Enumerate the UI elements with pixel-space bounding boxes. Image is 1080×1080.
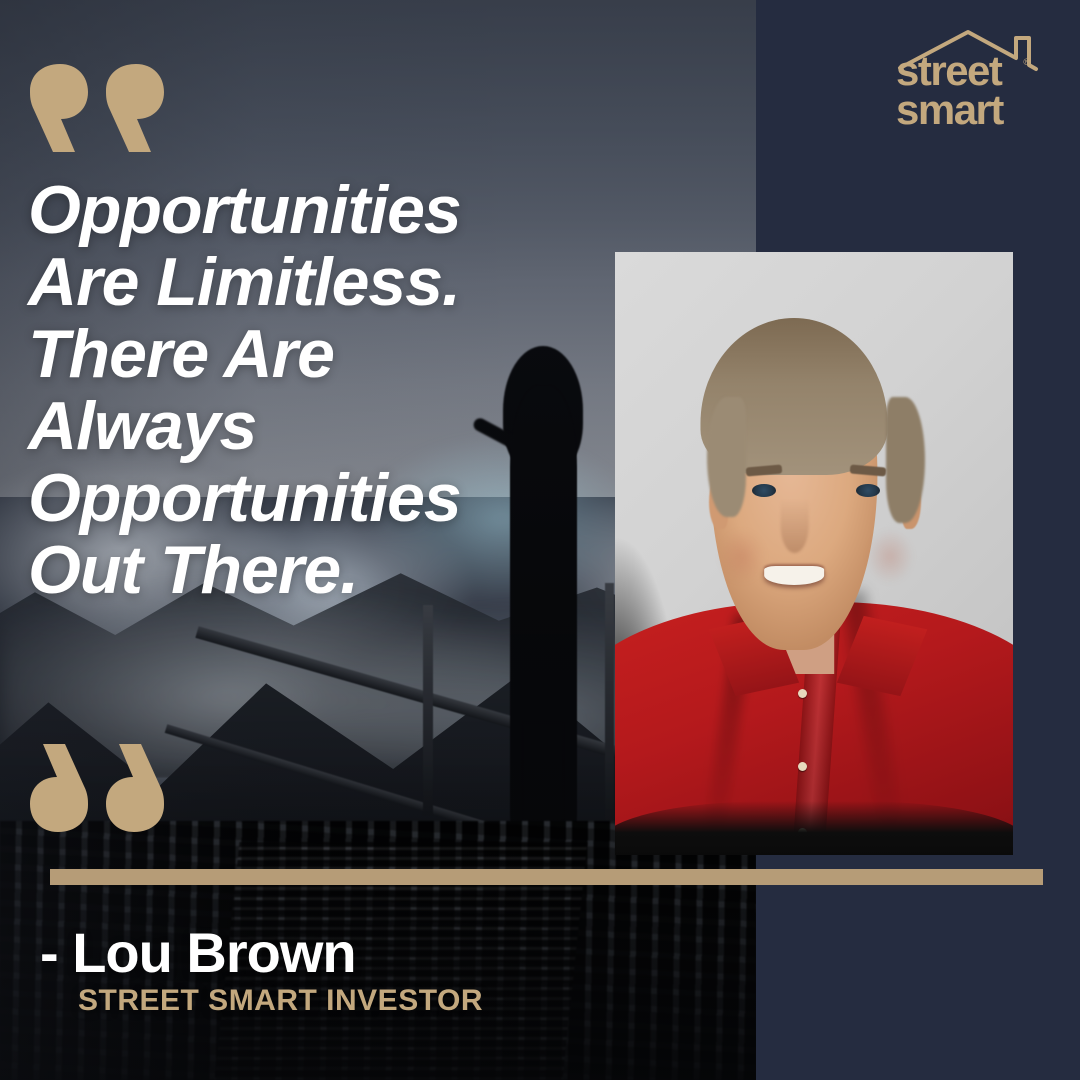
speaker-portrait	[615, 252, 1013, 855]
hair-side	[707, 397, 747, 518]
logo-line-2: smart	[896, 91, 1046, 130]
quote-line: Opportunities	[28, 462, 628, 534]
attribution-name: - Lou Brown	[40, 920, 356, 985]
closing-quote-marks	[28, 742, 166, 834]
opening-quote-marks	[28, 62, 166, 154]
cheek	[866, 529, 914, 583]
street-smart-logo[interactable]: street smart ®	[896, 24, 1046, 128]
quote-graphic-canvas: street smart ® Opportunities Are Limitle…	[0, 0, 1080, 1080]
quote-open-icon	[28, 62, 90, 154]
quote-line: Are Limitless.	[28, 246, 628, 318]
quote-line: There Are	[28, 318, 628, 390]
quote-text: Opportunities Are Limitless. There Are A…	[28, 174, 628, 606]
trademark-icon: ®	[1023, 58, 1030, 67]
quote-line: Out There.	[28, 534, 628, 606]
quote-close-icon	[28, 742, 90, 834]
cheek	[718, 529, 766, 583]
nose	[781, 499, 809, 553]
divider-bar	[50, 869, 1043, 885]
quote-open-icon	[104, 62, 166, 154]
shirt-button	[798, 762, 807, 771]
quote-line: Always	[28, 390, 628, 462]
quote-line: Opportunities	[28, 174, 628, 246]
quote-close-icon	[104, 742, 166, 834]
dark-foreground	[615, 801, 1013, 855]
attribution-role: STREET SMART INVESTOR	[78, 984, 483, 1018]
